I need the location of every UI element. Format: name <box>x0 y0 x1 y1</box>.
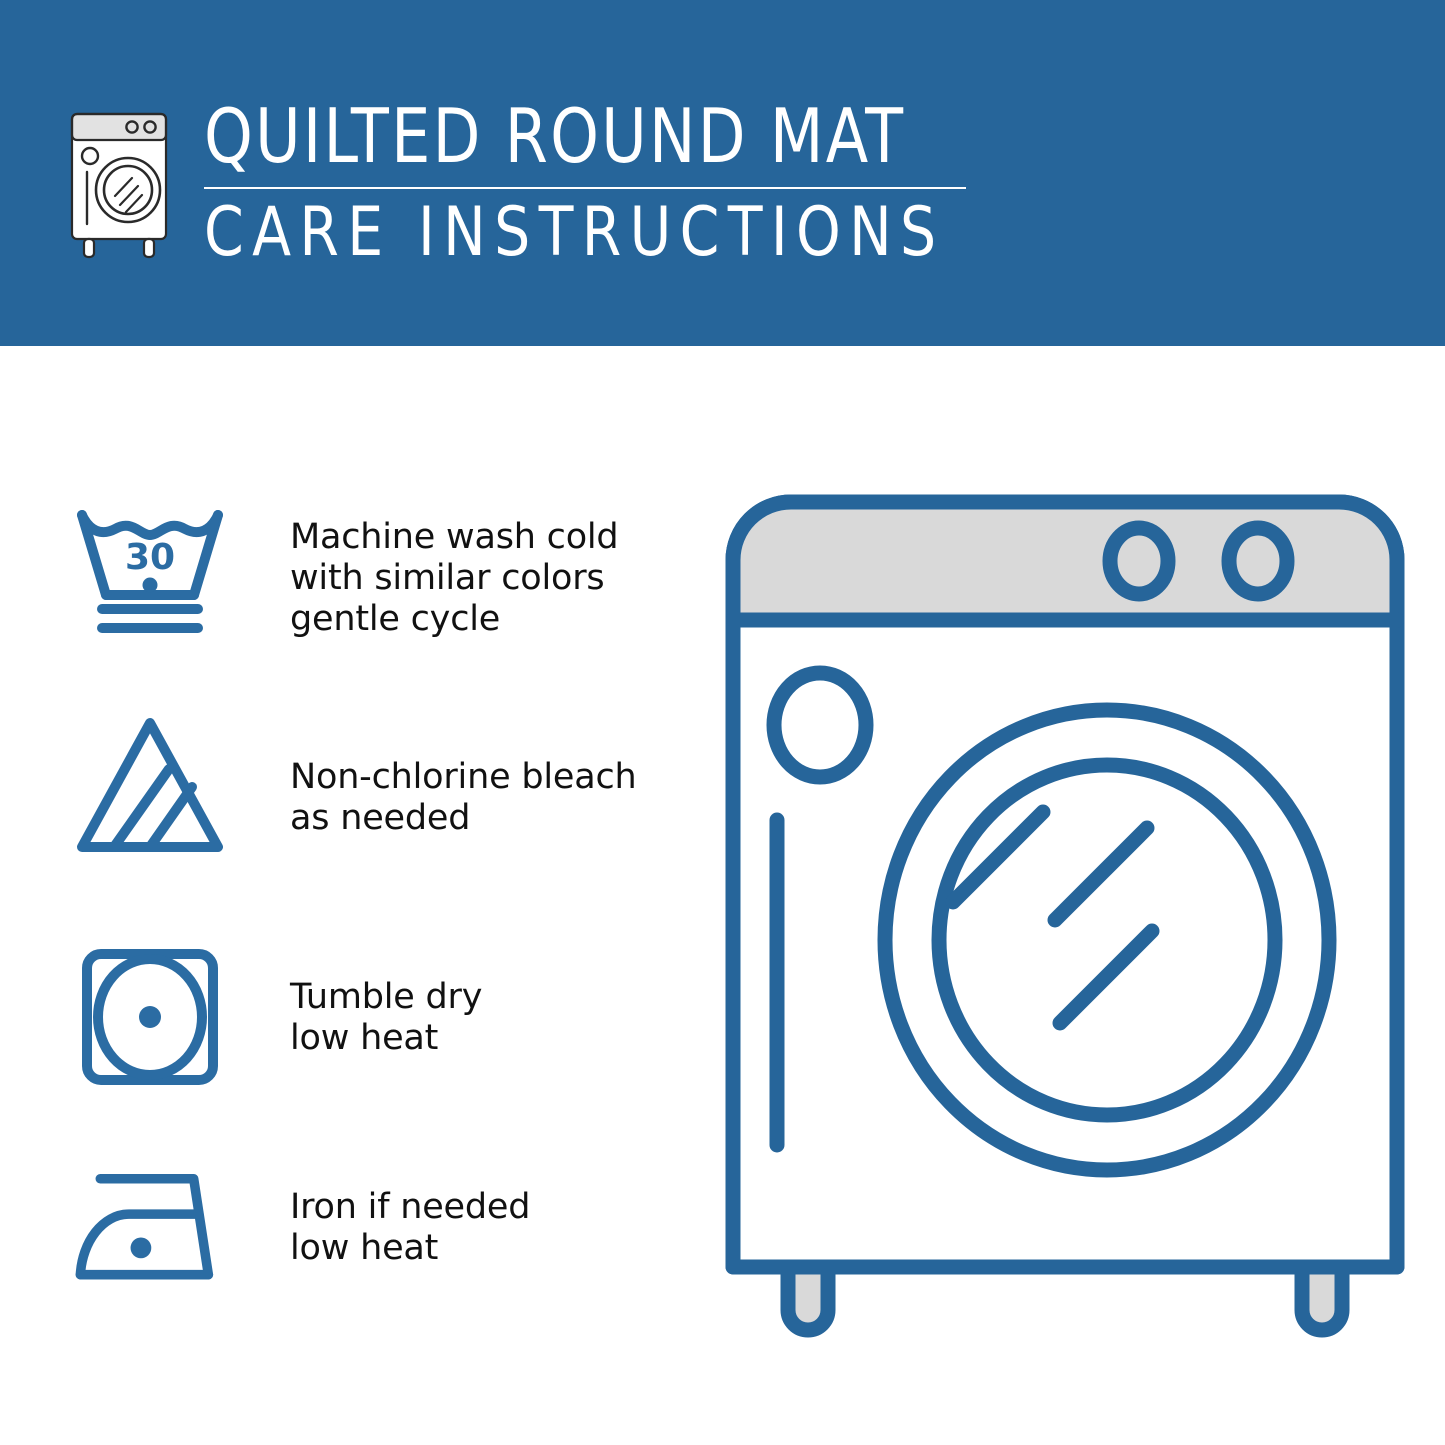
washing-machine-icon <box>62 104 182 264</box>
page-title: QUILTED ROUND MAT <box>204 96 905 176</box>
header-title-group: QUILTED ROUND MAT CARE INSTRUCTIONS <box>204 96 1000 269</box>
washer-leg-left <box>788 1267 828 1330</box>
washer-control-panel <box>733 502 1397 620</box>
care-instruction-label: Iron if needed low heat <box>290 1152 690 1269</box>
header-band: QUILTED ROUND MAT CARE INSTRUCTIONS <box>0 0 1445 346</box>
title-divider <box>204 187 966 189</box>
care-instruction-label: Tumble dry low heat <box>290 942 690 1059</box>
tumble-dry-low-icon <box>70 942 230 1092</box>
care-instruction-label: Machine wash cold with similar colors ge… <box>290 497 690 640</box>
page-subtitle: CARE INSTRUCTIONS <box>204 197 945 269</box>
care-instruction-item: Iron if needed low heat <box>70 1152 690 1302</box>
care-instruction-item: Tumble dry low heat <box>70 942 690 1092</box>
care-instruction-item: Non-chlorine bleach as needed <box>70 709 690 859</box>
front-load-washing-machine-illustration <box>715 470 1415 1360</box>
header-content: QUILTED ROUND MAT CARE INSTRUCTIONS <box>62 96 1000 269</box>
non-chlorine-bleach-triangle-icon <box>70 709 230 859</box>
iron-low-heat-icon <box>70 1152 230 1302</box>
wash-temperature-value: 30 <box>125 537 175 578</box>
care-instruction-label: Non-chlorine bleach as needed <box>290 709 690 839</box>
machine-wash-30-icon: 30 <box>70 497 230 647</box>
care-instruction-item: 30 Machine wash cold with similar colors… <box>70 497 690 647</box>
washer-leg-right <box>1302 1267 1342 1330</box>
